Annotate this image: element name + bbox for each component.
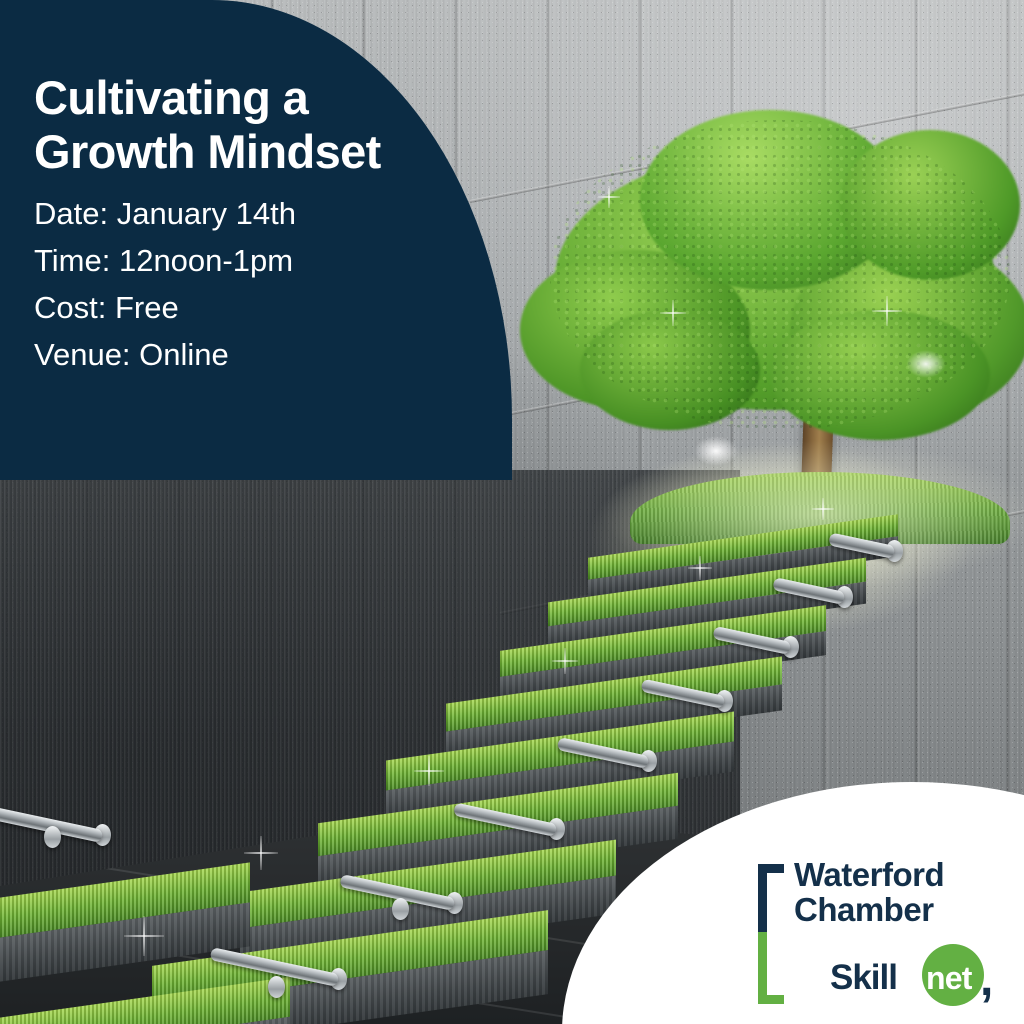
waterford-chamber-wordmark: Waterford Chamber bbox=[794, 858, 944, 928]
detail-time: Time: 12noon-1pm bbox=[34, 237, 296, 284]
navy-corner-mask bbox=[0, 360, 200, 480]
skillnet-skill-text: Skill bbox=[830, 958, 897, 998]
detail-date: Date: January 14th bbox=[34, 190, 296, 237]
chamber-line-2: Chamber bbox=[794, 893, 944, 928]
bracket-icon bbox=[758, 864, 784, 1004]
skillnet-net-text: net bbox=[926, 960, 972, 997]
title-line-2: Growth Mindset bbox=[34, 125, 381, 178]
stair-step bbox=[0, 977, 290, 1024]
detail-cost: Cost: Free bbox=[34, 284, 296, 331]
event-poster: Cultivating aGrowth Mindset Date: Januar… bbox=[0, 0, 1024, 1024]
chamber-line-1: Waterford bbox=[794, 858, 944, 893]
logo-lockup: Waterford Chamber Skill net , bbox=[758, 858, 1008, 1008]
skillnet-comma: , bbox=[980, 966, 993, 995]
page-title: Cultivating aGrowth Mindset bbox=[34, 71, 484, 178]
skillnet-logo: Skill net , bbox=[830, 944, 1008, 1008]
title-line-1: Cultivating a bbox=[34, 71, 308, 124]
